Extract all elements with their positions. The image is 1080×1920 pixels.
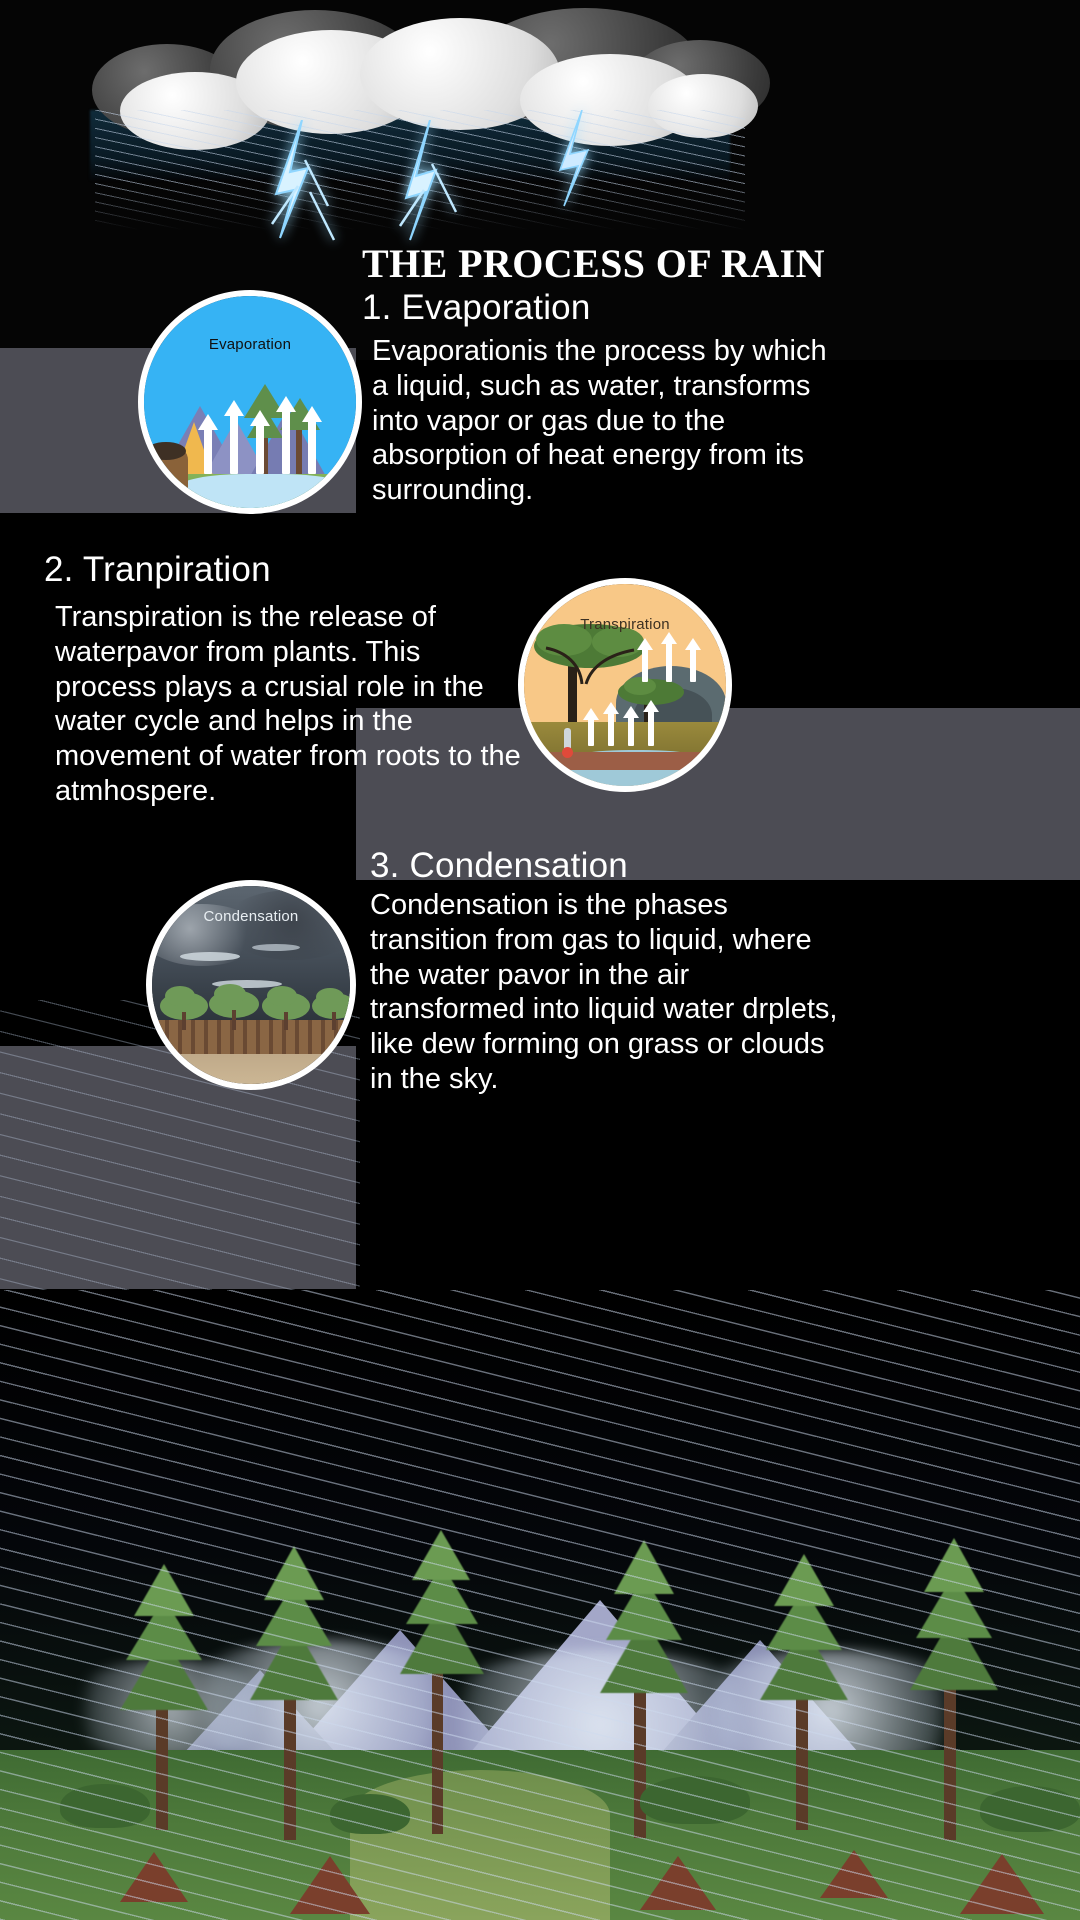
illustration-label-evaporation: Evaporation <box>144 336 356 353</box>
lightning-bolt-left <box>250 120 360 270</box>
thermometer-bulb <box>562 747 573 758</box>
soil-layer <box>524 752 732 770</box>
transpiration-arrowhead-1 <box>583 708 599 720</box>
vapor-arrow-head-4 <box>276 396 296 412</box>
tree-stump-top <box>146 442 186 460</box>
section-body-condensation: Condensation is the phases transition fr… <box>370 888 845 1097</box>
rainy-forest-illustration <box>0 1290 1080 1920</box>
illustration-evaporation: Evaporation <box>138 290 362 514</box>
canopy-arrow-1 <box>642 648 648 682</box>
transpiration-arrowhead-3 <box>623 706 639 718</box>
vapor-arrow-head-1 <box>198 414 218 430</box>
section-heading-evaporation: 1. Evaporation <box>362 288 591 328</box>
lightning-bolt-right <box>540 110 630 230</box>
vapor-arrow-head-5 <box>302 406 322 422</box>
section-body-transpiration: Transpiration is the release of waterpav… <box>55 600 525 809</box>
canopy-arrowhead-1 <box>637 638 653 650</box>
canopy-arrowhead-2 <box>661 632 677 644</box>
cloud-wisp-1 <box>180 952 240 961</box>
vapor-arrow-head-3 <box>250 410 270 426</box>
illustration-label-transpiration: Transpiration <box>524 616 726 633</box>
transpiration-arrow-1 <box>588 718 594 746</box>
cloud-wisp-2 <box>252 944 300 951</box>
section-heading-condensation: 3. Condensation <box>370 846 628 886</box>
tree-row <box>158 976 356 1030</box>
canopy-arrowhead-3 <box>685 638 701 650</box>
section-body-evaporation: Evaporationis the process by which a liq… <box>372 334 842 508</box>
section-heading-transpiration: 2. Tranpiration <box>44 550 271 590</box>
canopy-arrow-3 <box>690 648 696 682</box>
illustration-condensation: Condensation <box>146 880 356 1090</box>
vapor-arrow-shaft-4 <box>282 410 290 474</box>
transpiration-arrowhead-2 <box>603 702 619 714</box>
vapor-arrow-shaft-2 <box>230 414 238 474</box>
illustration-label-condensation: Condensation <box>152 908 350 925</box>
rain-streaks-bottom <box>0 1290 1080 1920</box>
canopy-arrow-2 <box>666 642 672 682</box>
transpiration-arrow-2 <box>608 712 614 746</box>
page-title: THE PROCESS OF RAIN <box>362 240 1062 287</box>
vapor-arrow-shaft-3 <box>256 424 264 474</box>
vapor-arrow-shaft-5 <box>308 420 316 474</box>
vapor-arrow-head-2 <box>224 400 244 416</box>
illustration-transpiration: Transpiration <box>518 578 732 792</box>
transpiration-arrowhead-4 <box>643 700 659 712</box>
transpiration-arrow-4 <box>648 710 654 746</box>
vapor-arrow-shaft-1 <box>204 428 212 474</box>
lake-water <box>178 474 348 508</box>
transpiration-arrow-3 <box>628 716 634 746</box>
poster-canvas: THE PROCESS OF RAIN 1. Evaporation Evapo… <box>0 0 1080 1920</box>
